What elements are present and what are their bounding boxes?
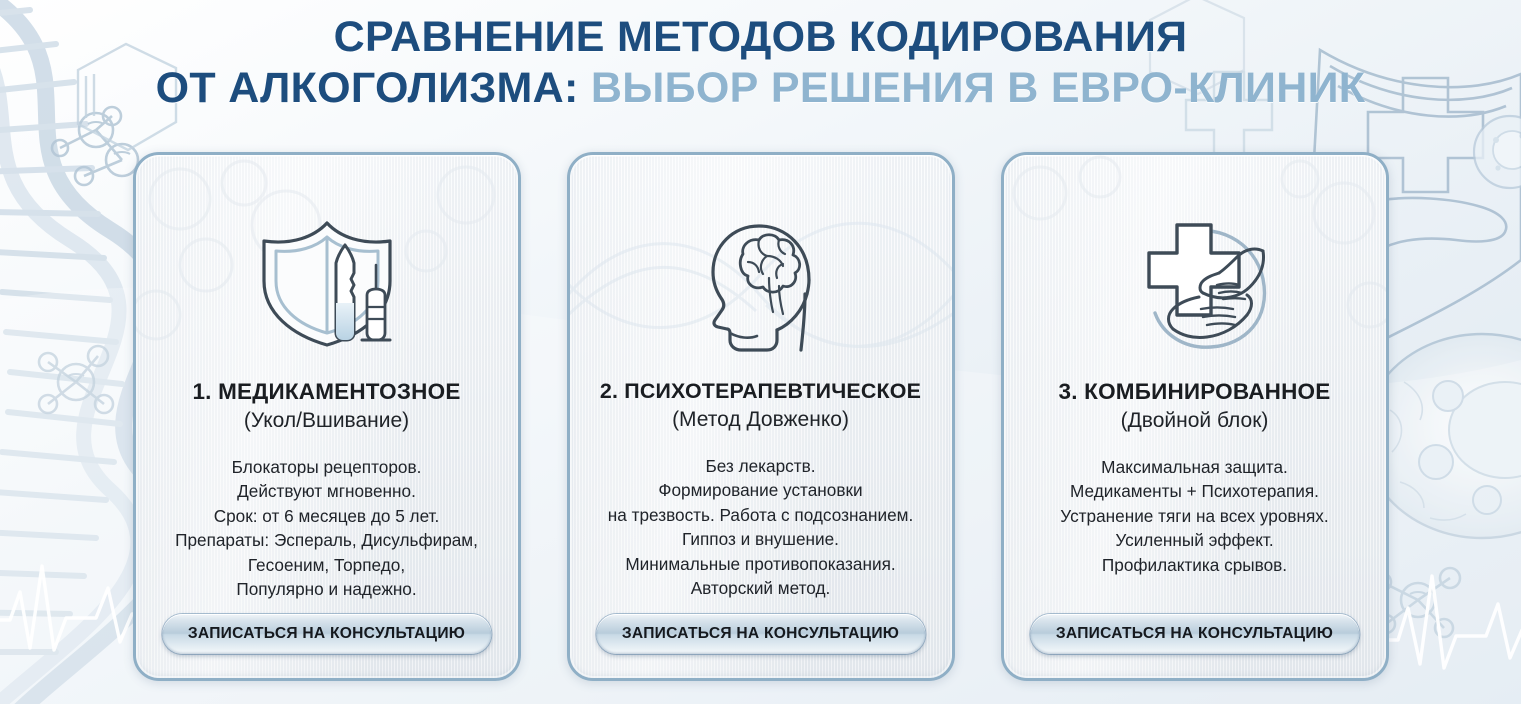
card-line: Авторский метод. [608, 576, 914, 600]
book-consultation-button[interactable]: ЗАПИСАТЬСЯ НА КОНСУЛЬТАЦИЮ [596, 614, 925, 654]
card-line: Максимальная защита. [1060, 455, 1328, 479]
card-description: Максимальная защита. Медикаменты + Психо… [1052, 455, 1336, 577]
card-line: Устранение тяги на всех уровнях. [1060, 504, 1328, 528]
page-title-light-part: ВЫБОР РЕШЕНИЯ В ЕВРО-КЛИНИК [591, 64, 1365, 112]
page-title-line-1: СРАВНЕНИЕ МЕТОДОВ КОДИРОВАНИЯ [0, 14, 1521, 60]
card-line: Без лекарств. [608, 454, 914, 478]
card-title: 2. ПСИХОТЕРАПЕВТИЧЕСКОЕ [600, 379, 921, 404]
card-line: Гиппоз и внушение. [608, 527, 914, 551]
header: СРАВНЕНИЕ МЕТОДОВ КОДИРОВАНИЯ ОТ АЛКОГОЛ… [0, 14, 1521, 112]
book-consultation-button[interactable]: ЗАПИСАТЬСЯ НА КОНСУЛЬТАЦИЮ [162, 614, 491, 654]
card-subtitle: (Метод Довженко) [672, 408, 849, 432]
card-line: Формирование установки [608, 478, 914, 502]
card-line: Препараты: Эспераль, Дисульфирам, [175, 528, 478, 552]
card-line: Действуют мгновенно. [175, 479, 478, 503]
head-brain-icon [691, 212, 831, 352]
shield-ampoule-syringe-icon [252, 215, 402, 349]
card-subtitle: (Двойной блок) [1121, 409, 1269, 433]
method-card-combined[interactable]: 3. КОМБИНИРОВАННОЕ (Двойной блок) Максим… [1001, 152, 1389, 681]
card-description: Без лекарств. Формирование установки на … [600, 454, 922, 601]
cross-helping-hands-icon [1119, 213, 1271, 351]
card-line: Срок: от 6 месяцев до 5 лет. [175, 504, 478, 528]
book-consultation-button[interactable]: ЗАПИСАТЬСЯ НА КОНСУЛЬТАЦИЮ [1030, 614, 1359, 654]
card-line: Блокаторы рецепторов. [175, 455, 478, 479]
page-title-dark-part: ОТ АЛКОГОЛИЗМА: [156, 64, 579, 112]
card-line: Усиленный эффект. [1060, 528, 1328, 552]
card-description: Блокаторы рецепторов. Действуют мгновенн… [167, 455, 486, 602]
card-line: Популярно и надежно. [175, 577, 478, 601]
cards-container: 1. МЕДИКАМЕНТОЗНОЕ (Укол/Вшивание) Блока… [0, 152, 1521, 677]
card-line: Минимальные противопоказания. [608, 552, 914, 576]
card-line: на трезвость. Работа с подсознанием. [608, 503, 914, 527]
method-card-psychotherapy[interactable]: 2. ПСИХОТЕРАПЕВТИЧЕСКОЕ (Метод Довженко)… [567, 152, 955, 681]
card-icon-wrap [1119, 207, 1271, 357]
card-icon-wrap [252, 207, 402, 357]
card-subtitle: (Укол/Вшивание) [244, 409, 409, 433]
card-title: 1. МЕДИКАМЕНТОЗНОЕ [192, 379, 460, 405]
card-line: Профилактика срывов. [1060, 553, 1328, 577]
infographic-root: СРАВНЕНИЕ МЕТОДОВ КОДИРОВАНИЯ ОТ АЛКОГОЛ… [0, 0, 1521, 704]
card-icon-wrap [691, 207, 831, 357]
method-card-medication[interactable]: 1. МЕДИКАМЕНТОЗНОЕ (Укол/Вшивание) Блока… [133, 152, 521, 681]
card-line: Гесоеним, Торпедо, [175, 553, 478, 577]
card-line: Медикаменты + Психотерапия. [1060, 479, 1328, 503]
card-title: 3. КОМБИНИРОВАННОЕ [1059, 379, 1331, 405]
page-title-line-2: ОТ АЛКОГОЛИЗМА: ВЫБОР РЕШЕНИЯ В ЕВРО-КЛИ… [0, 65, 1521, 111]
